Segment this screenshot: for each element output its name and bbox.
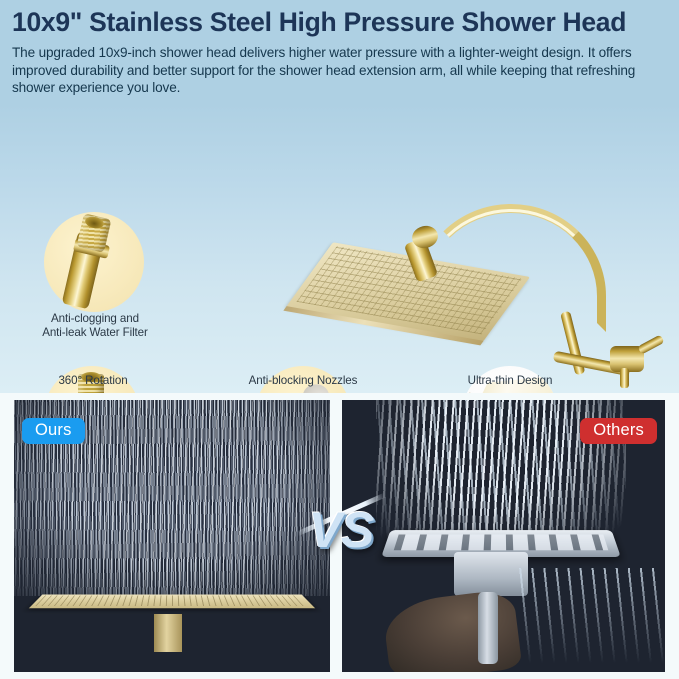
ours-shower-head-plate bbox=[29, 594, 315, 608]
features-section: Anti-clogging and Anti-leak Water Filter… bbox=[0, 104, 679, 393]
header-section: 10x9" Stainless Steel High Pressure Show… bbox=[0, 0, 679, 104]
comparison-panel-others: Others bbox=[342, 400, 665, 672]
feature-label-line1: 360° Rotation bbox=[12, 374, 174, 388]
ours-head-stem bbox=[154, 614, 182, 652]
valve-handle-icon bbox=[637, 334, 664, 354]
brass-filter-barrel-icon bbox=[44, 212, 144, 312]
product-image-shower-head-arm bbox=[288, 208, 679, 388]
vs-label: VS bbox=[299, 500, 383, 560]
feature-label-line2: Anti-leak Water Filter bbox=[10, 326, 180, 340]
badge-others: Others bbox=[580, 418, 657, 444]
others-drip-streaks bbox=[518, 568, 664, 672]
page-title: 10x9" Stainless Steel High Pressure Show… bbox=[12, 8, 667, 37]
badge-ours: Ours bbox=[22, 418, 85, 444]
infographic-page: 10x9" Stainless Steel High Pressure Show… bbox=[0, 0, 679, 679]
page-subtitle: The upgraded 10x9-inch shower head deliv… bbox=[12, 44, 667, 97]
feature-label-line1: Ultra-thin Design bbox=[429, 374, 591, 388]
others-hose bbox=[478, 592, 498, 664]
others-hand bbox=[382, 588, 523, 672]
feature-label-rotation: 360° Rotation bbox=[12, 374, 174, 388]
feature-label-nozzles: Anti-blocking Nozzles bbox=[222, 374, 384, 388]
feature-label-ultra-thin: Ultra-thin Design bbox=[429, 374, 591, 388]
valve-stem-icon bbox=[620, 368, 629, 388]
feature-label-water-filter: Anti-clogging and Anti-leak Water Filter bbox=[10, 312, 180, 341]
feature-label-line1: Anti-blocking Nozzles bbox=[222, 374, 384, 388]
others-head-hub bbox=[454, 552, 528, 596]
comparison-panel-ours: Ours bbox=[14, 400, 330, 672]
feature-label-line1: Anti-clogging and bbox=[10, 312, 180, 326]
